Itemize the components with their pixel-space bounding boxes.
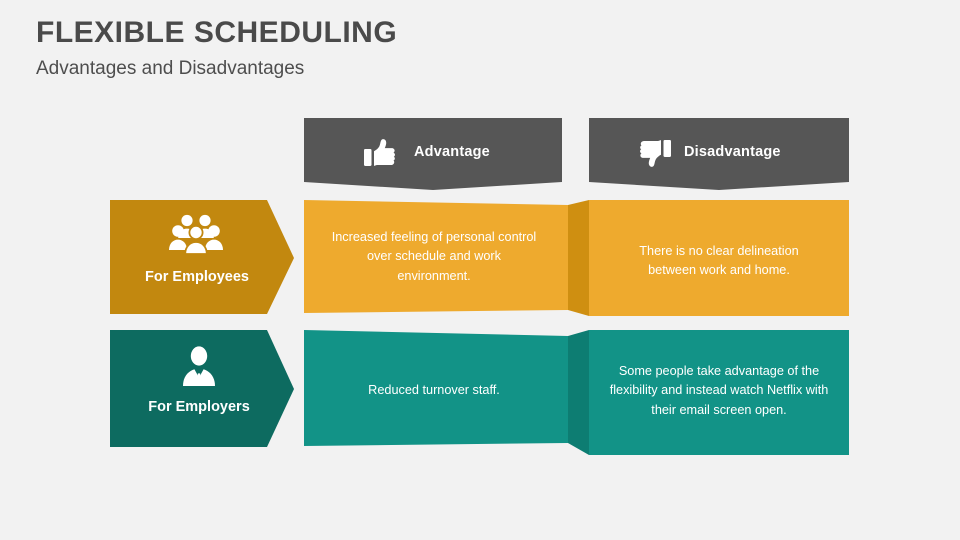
employers-panel-fold [568, 330, 589, 455]
employees-disadvantage-text: There is no clear delineation between wo… [615, 242, 823, 281]
employers-advantage-text: Reduced turnover staff. [330, 381, 538, 400]
employees-advantage-text: Increased feeling of personal control ov… [330, 228, 538, 286]
employees-panel-fold [568, 200, 589, 316]
advantage-banner-label: Advantage [414, 144, 490, 160]
employers-row-label: For Employers [108, 399, 290, 415]
slide-canvas: FLEXIBLE SCHEDULING Advantages and Disad… [0, 0, 960, 540]
employees-row-label: For Employees [108, 269, 286, 285]
disadvantage-banner-label: Disadvantage [684, 144, 781, 160]
employers-disadvantage-text: Some people take advantage of the flexib… [600, 362, 838, 420]
